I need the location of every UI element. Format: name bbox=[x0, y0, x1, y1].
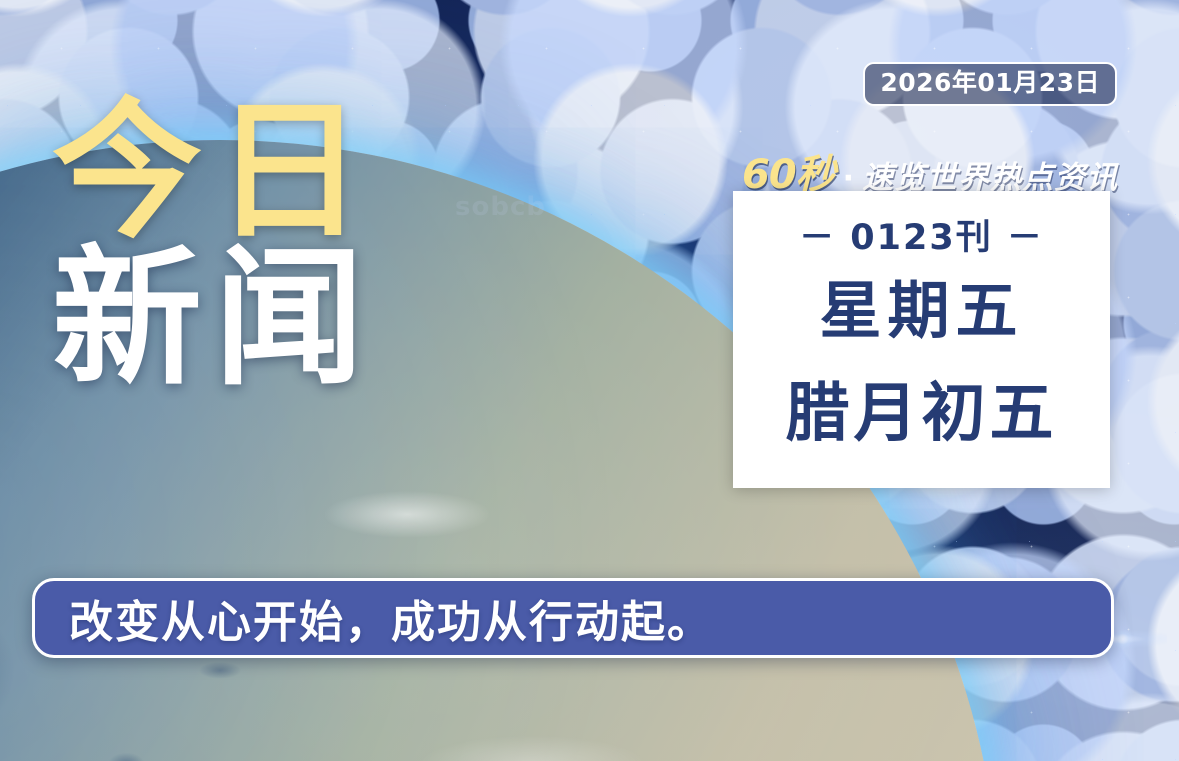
date-badge: 2026年01月23日 bbox=[863, 62, 1117, 106]
headline-line-news: 新闻 bbox=[52, 243, 472, 396]
issue-card: － 0123刊 － 星期五 腊月初五 bbox=[733, 191, 1110, 488]
watermark-text: sobcb bbox=[455, 192, 585, 226]
headline-line-today: 今日 bbox=[52, 96, 472, 249]
headline-block: 今日 新闻 bbox=[52, 96, 472, 396]
news-poster: sobcb 今日 新闻 2026年01月23日 60秒 · 速览世界热点资讯 －… bbox=[0, 0, 1179, 761]
slogan-banner: 改变从心开始，成功从行动起。 bbox=[32, 578, 1114, 658]
slogan-text: 改变从心开始，成功从行动起。 bbox=[35, 586, 713, 650]
weekday-label: 星期五 bbox=[819, 280, 1023, 342]
issue-number: － 0123刊 － bbox=[799, 209, 1044, 260]
lunar-date-label: 腊月初五 bbox=[786, 382, 1058, 446]
